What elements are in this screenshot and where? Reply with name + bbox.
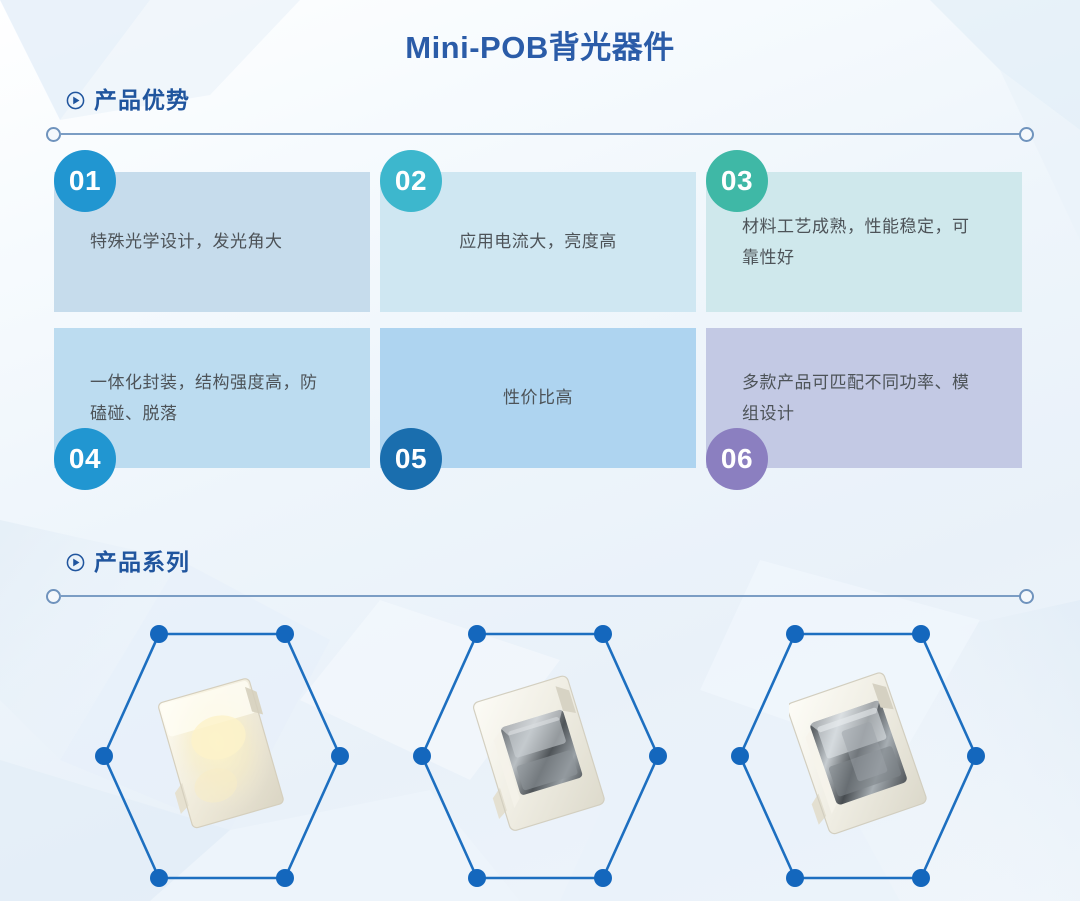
section-series-rule [46,587,1034,605]
section-advantages-rule [46,125,1034,143]
rule-bar [59,133,1021,135]
advantage-text-06: 多款产品可匹配不同功率、模组设计 [742,367,986,430]
advantage-card-01[interactable]: 01 特殊光学设计，发光角大 [54,172,370,312]
section-advantages: 产品优势 [46,84,1034,143]
advantage-text-05: 性价比高 [503,382,573,413]
advantage-card-06[interactable]: 06 多款产品可匹配不同功率、模组设计 [706,328,1022,468]
advantage-text-01: 特殊光学设计，发光角大 [90,226,283,257]
advantage-text-04: 一体化封装，结构强度高，防磕碰、脱落 [90,367,334,430]
rule-knob-right [1019,589,1034,604]
advantage-badge-02: 02 [380,150,442,212]
advantage-text-02: 应用电流大，亮度高 [459,226,617,257]
rule-bar [59,595,1021,597]
section-series-title: 产品系列 [94,551,190,574]
advantage-badge-01: 01 [54,150,116,212]
advantage-badge-05: 05 [380,428,442,490]
rule-knob-right [1019,127,1034,142]
led-package-diffused-image [153,672,291,842]
section-advantages-title: 产品优势 [94,89,190,112]
led-package-large-reflector-image [789,672,927,842]
section-series-header: 产品系列 [46,546,1034,578]
advantage-badge-03: 03 [706,150,768,212]
product-hexagon-3[interactable] [713,612,1003,901]
advantage-card-05[interactable]: 05 性价比高 [380,328,696,468]
product-hexagon-1[interactable] [77,612,367,901]
advantage-card-03[interactable]: 03 材料工艺成熟，性能稳定，可靠性好 [706,172,1022,312]
play-circle-icon [66,91,85,110]
poster-page: Mini-POB背光器件 产品优势 01 特殊光学设计，发光角大 02 应用 [0,0,1080,901]
advantage-badge-06: 06 [706,428,768,490]
advantage-badge-04: 04 [54,428,116,490]
advantage-card-02[interactable]: 02 应用电流大，亮度高 [380,172,696,312]
product-hexagon-2[interactable] [395,612,685,901]
led-package-reflector-image [471,672,609,842]
section-series: 产品系列 [46,546,1034,605]
page-title: Mini-POB背光器件 [0,22,1080,67]
advantage-card-04[interactable]: 04 一体化封装，结构强度高，防磕碰、脱落 [54,328,370,468]
section-advantages-header: 产品优势 [46,84,1034,116]
advantages-grid: 01 特殊光学设计，发光角大 02 应用电流大，亮度高 03 材料工艺成熟，性能… [54,172,1030,468]
product-series-row [0,612,1080,901]
play-circle-icon [66,553,85,572]
advantage-text-03: 材料工艺成熟，性能稳定，可靠性好 [742,211,986,274]
